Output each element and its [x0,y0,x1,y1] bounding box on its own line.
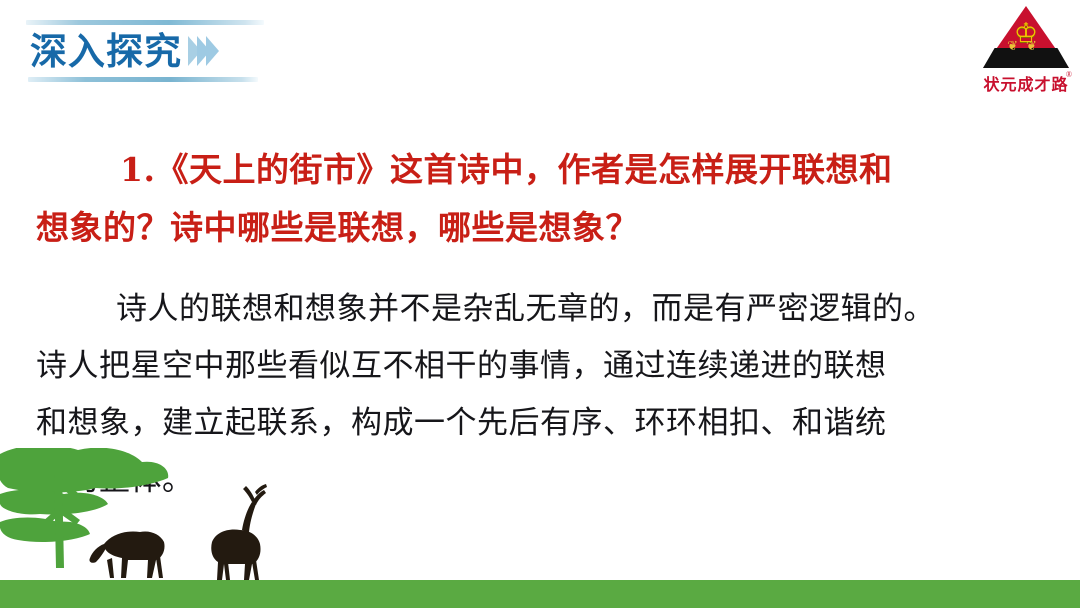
chevron-right-icon [206,36,219,66]
answer-line: 诗人的联想和想象并不是杂乱无章的，而是有严密逻辑的。 [36,281,1044,338]
question-line: 想象的？诗中哪些是联想，哪些是想象？ [36,199,1046,257]
registered-mark: ® [1066,70,1072,79]
savanna-decoration [0,448,330,580]
answer-line: 和想象，建立起联系，构成一个先后有序、环环相扣、和谐统 [36,395,1044,452]
page-title: 深入探究 [30,33,182,70]
grazing-deer-icon [89,531,164,578]
triangle-crest-emblem-icon: ♔ ❦❦ [983,6,1069,68]
wheat-icon: ❦❦ [983,39,1069,52]
answer-line: 诗人把星空中那些看似互不相干的事情，通过连续递进的联想 [36,338,1044,395]
brand-logo: ♔ ❦❦ 状元成才路 ® [980,6,1072,102]
brand-name: 状元成才路 [980,71,1072,95]
title-bottom-rule [28,77,258,82]
chevron-right-triple-icon [192,36,219,66]
question-text: 1.《天上的街市》这首诗中，作者是怎样展开联想和 想象的？诗中哪些是联想，哪些是… [36,141,1046,257]
ground-strip [0,580,1080,608]
title-row: 深入探究 [26,25,264,77]
slide-canvas: 深入探究 ♔ ❦❦ 状元成才路 ® 1.《天上的街市》这首诗中，作者是怎样展开联… [0,0,1080,608]
question-line: 1.《天上的街市》这首诗中，作者是怎样展开联想和 [36,141,1046,199]
standing-deer-icon [211,484,267,580]
section-title-block: 深入探究 [26,20,264,82]
